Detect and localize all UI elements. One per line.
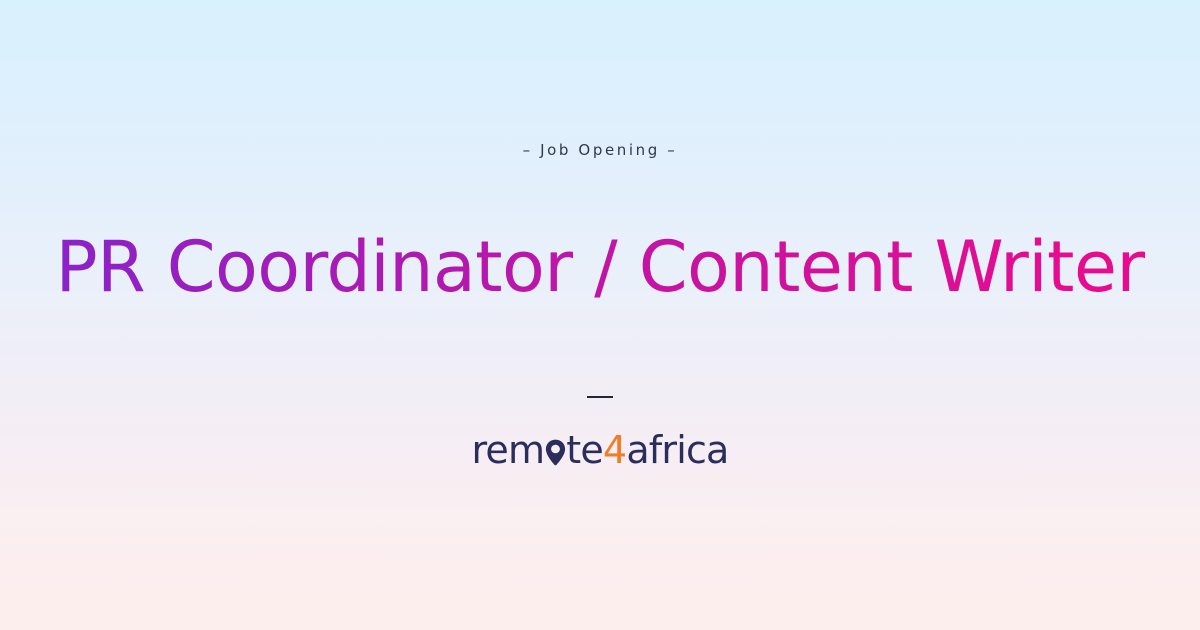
brand-logo: rem te4africa <box>471 431 728 469</box>
job-opening-share-card: – Job Opening – PR Coordinator / Content… <box>0 0 1200 630</box>
brand-logo-middle: te <box>566 431 603 469</box>
brand-logo-number: 4 <box>603 431 626 469</box>
brand-logo-suffix: africa <box>626 431 728 469</box>
brand-logo-prefix: rem <box>471 431 544 469</box>
location-pin-icon <box>545 439 566 466</box>
job-title: PR Coordinator / Content Writer <box>55 230 1144 304</box>
job-opening-eyebrow: – Job Opening – <box>523 143 678 158</box>
title-divider <box>587 396 613 398</box>
card-content-stack: – Job Opening – PR Coordinator / Content… <box>0 143 1200 468</box>
